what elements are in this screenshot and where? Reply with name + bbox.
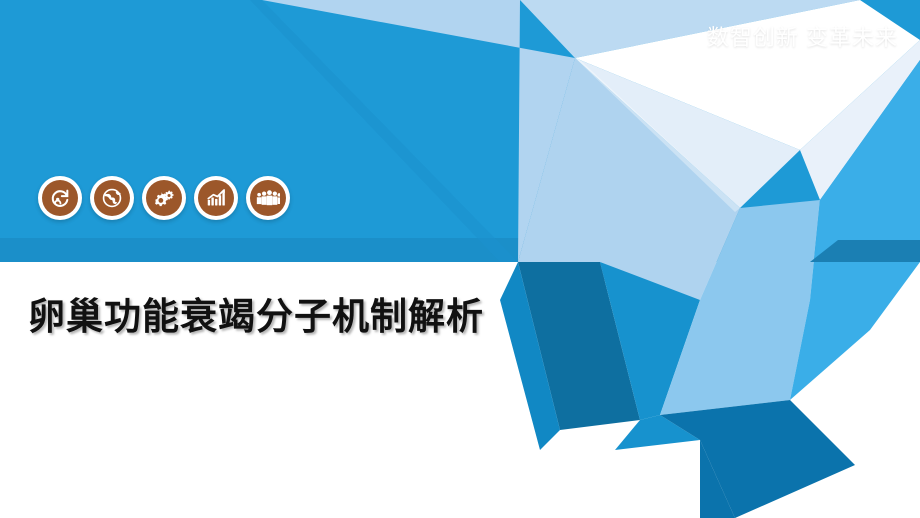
icon-badge-refresh-cycle[interactable] (38, 176, 82, 220)
tagline-text: 数智创新 变革未来 (707, 27, 898, 49)
team-people-icon (250, 180, 286, 216)
refresh-cycle-icon (42, 180, 78, 216)
gears-icon (146, 180, 182, 216)
facet-deep-banner (660, 400, 855, 518)
icon-badge-gears[interactable] (142, 176, 186, 220)
bar-chart-icon (198, 180, 234, 216)
icon-badge-globe[interactable] (90, 176, 134, 220)
globe-icon (94, 180, 130, 216)
page-title: 卵巢功能衰竭分子机制解析 (28, 297, 484, 338)
icon-badge-bar-chart[interactable] (194, 176, 238, 220)
background-artwork (0, 0, 920, 518)
icon-strip (38, 176, 290, 220)
slide-canvas: 数智创新 变革未来 (0, 0, 920, 518)
icon-badge-team-people[interactable] (246, 176, 290, 220)
